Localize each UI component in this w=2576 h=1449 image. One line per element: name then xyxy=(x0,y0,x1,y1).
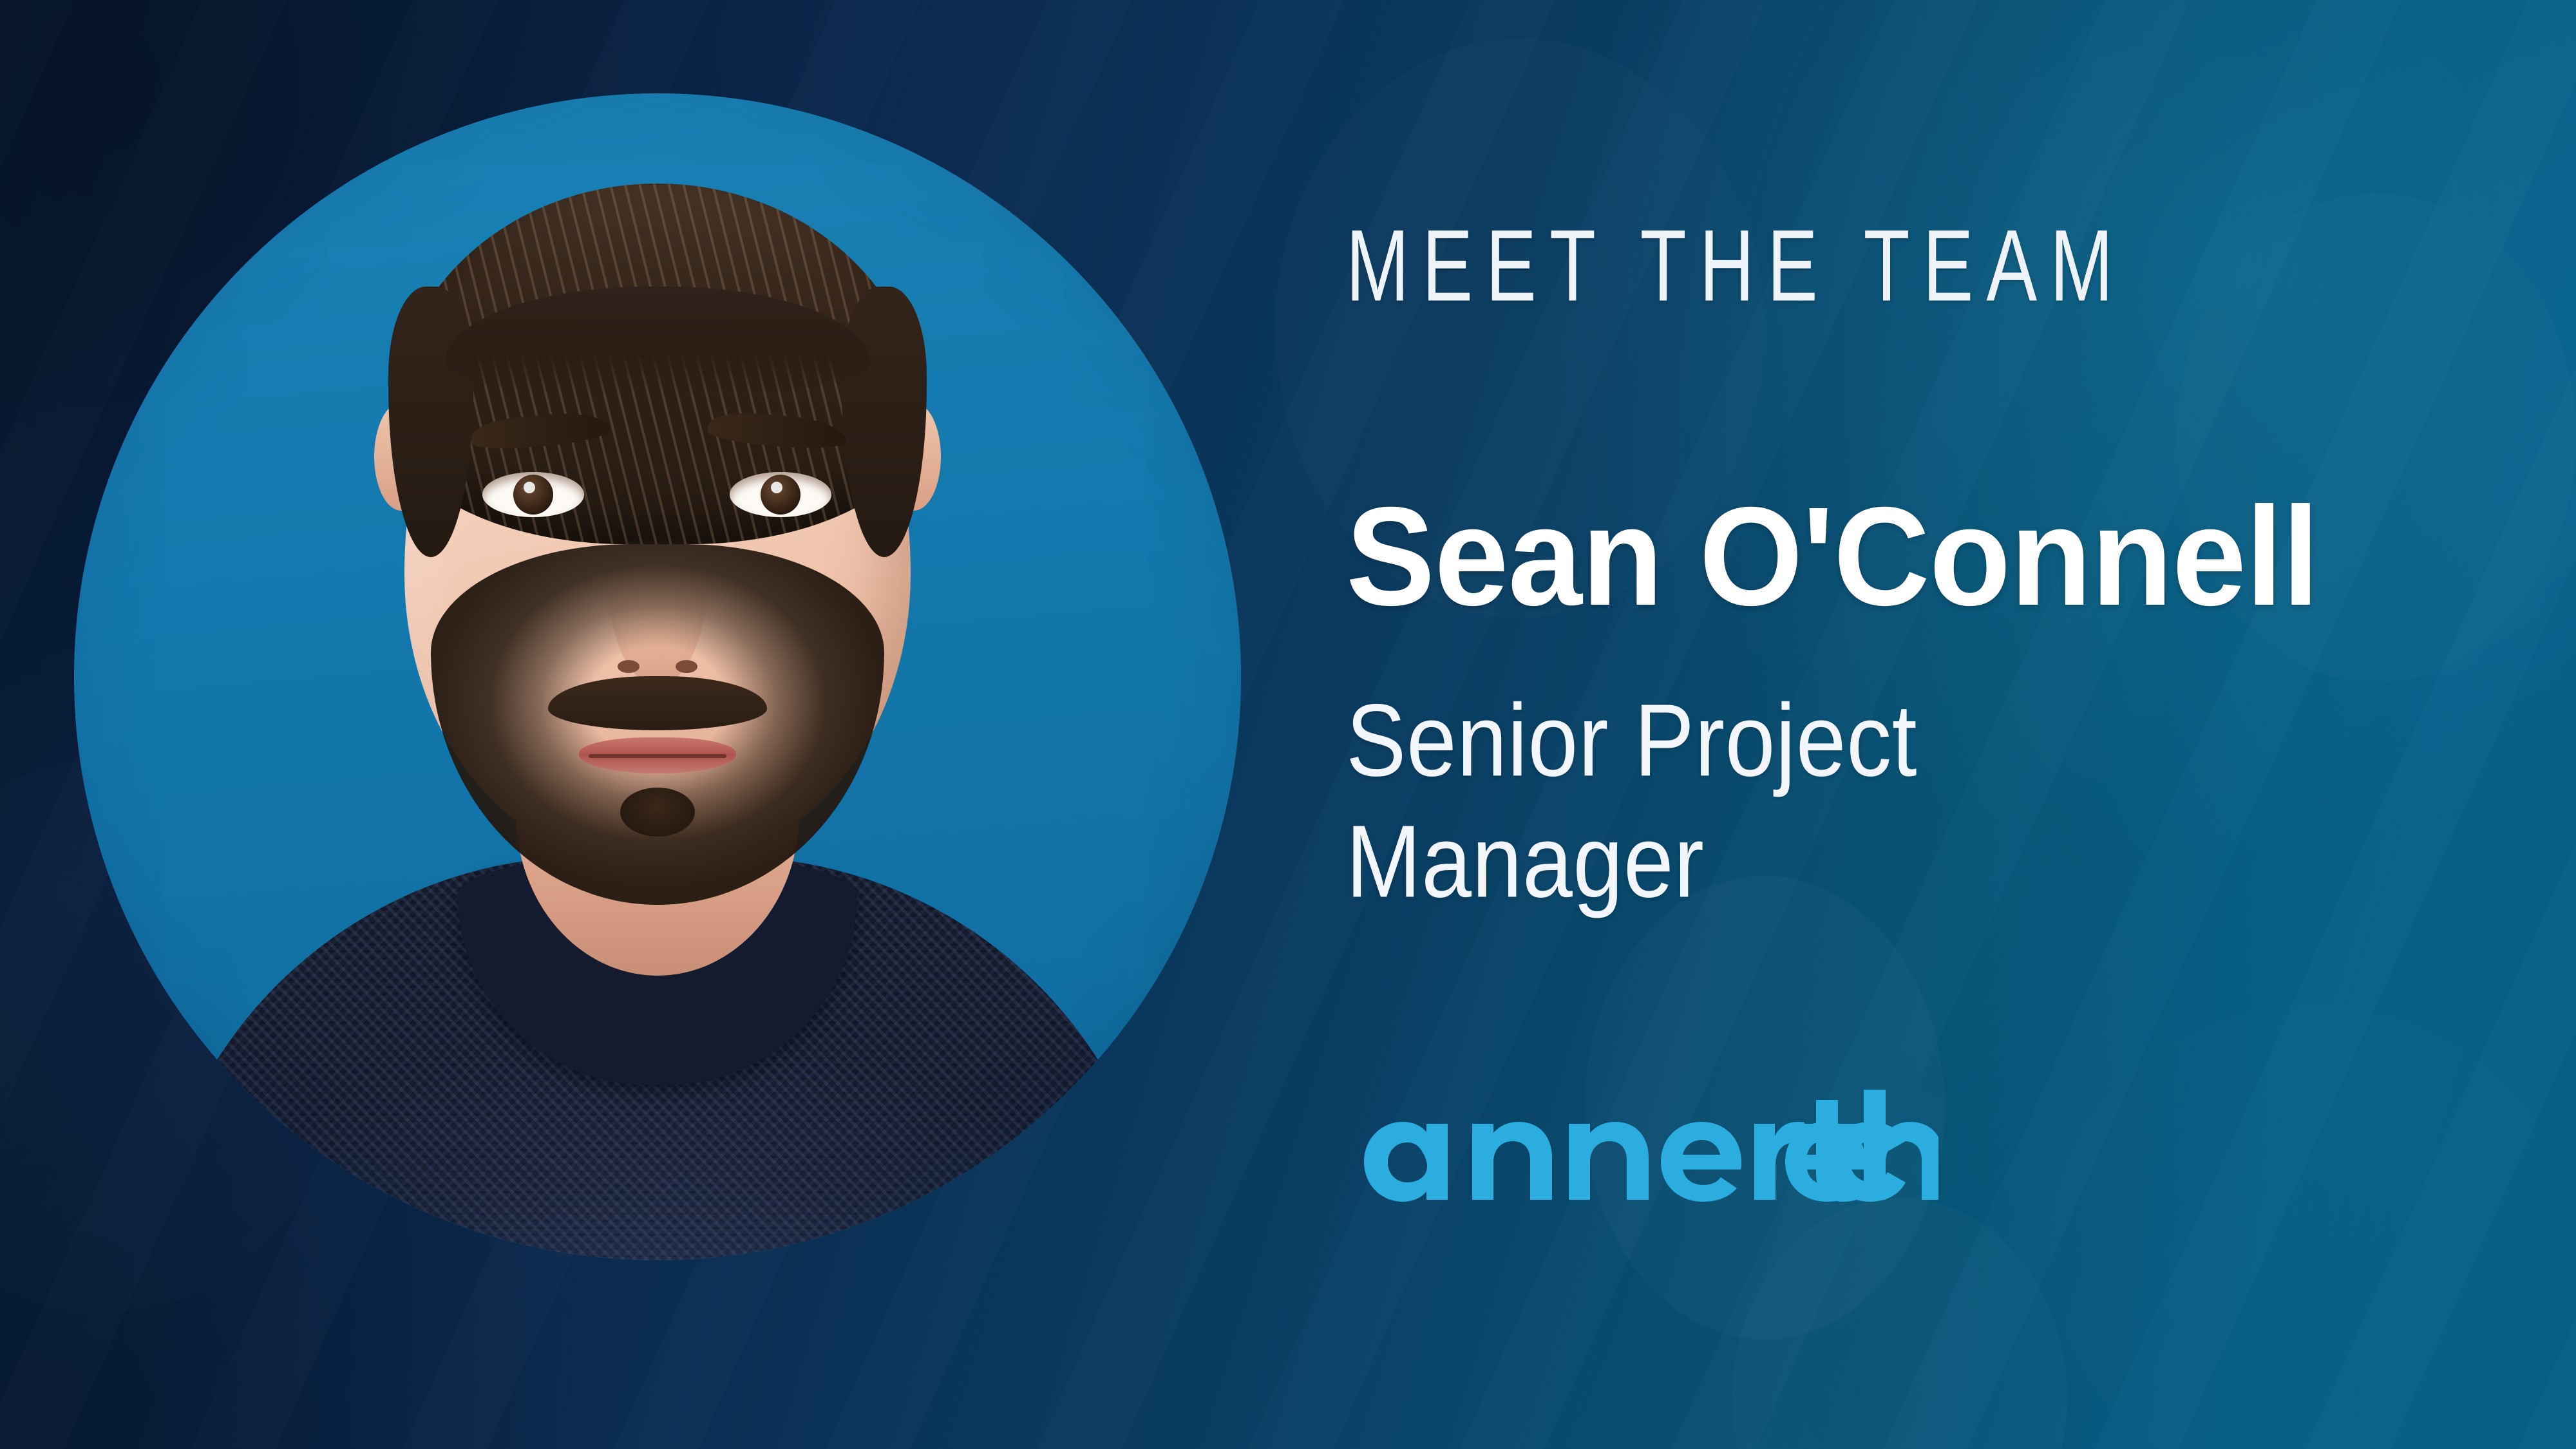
meet-the-team-card: MEET THE TEAM Sean O'Connell Senior Proj… xyxy=(0,0,2576,1449)
annertech-logo xyxy=(1346,1088,1938,1211)
text-column: MEET THE TEAM Sean O'Connell Senior Proj… xyxy=(1346,0,2544,1449)
person-name: Sean O'Connell xyxy=(1346,487,2319,627)
role-line-1: Senior Project xyxy=(1346,683,1917,798)
photo-vignette xyxy=(74,93,1241,1260)
person-role: Senior Project Manager xyxy=(1346,679,2106,922)
role-line-2: Manager xyxy=(1346,804,1704,919)
portrait-photo xyxy=(74,93,1241,1260)
eyebrow-label: MEET THE TEAM xyxy=(1346,215,2126,317)
